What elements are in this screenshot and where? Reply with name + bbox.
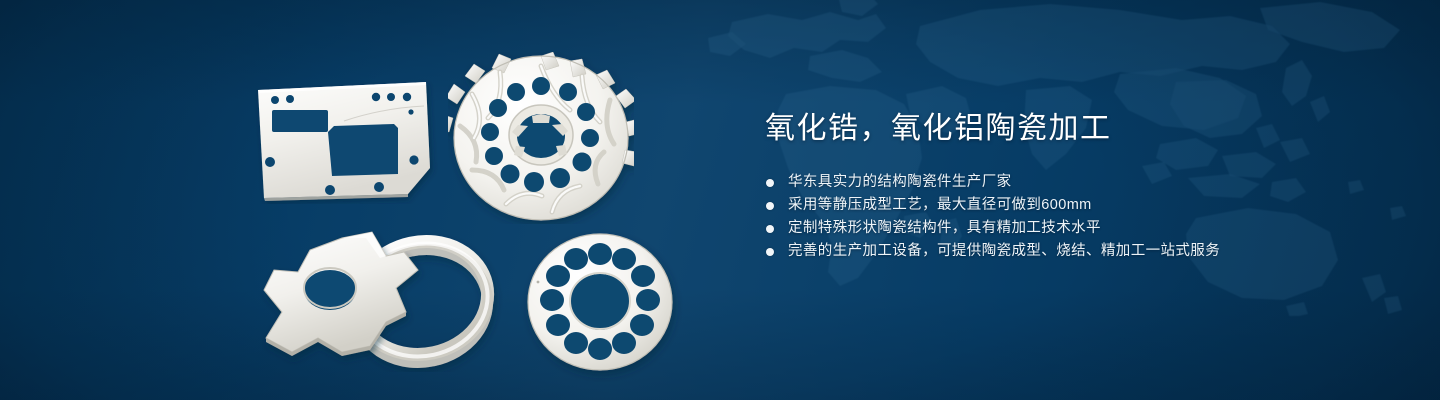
list-item: 定制特殊形状陶瓷结构件，具有精加工技术水平 bbox=[765, 217, 1365, 240]
ceramic-flat-plate bbox=[248, 72, 438, 204]
ceramic-hole-disc bbox=[512, 226, 694, 382]
list-item: 采用等静压成型工艺，最大直径可做到600mm bbox=[765, 194, 1365, 217]
bullet-dot-icon bbox=[766, 179, 774, 187]
bullet-dot-icon bbox=[766, 225, 774, 233]
banner-copy: 氧化锆，氧化铝陶瓷加工 华东具实力的结构陶瓷件生产厂家 采用等静压成型工艺，最大… bbox=[765, 108, 1365, 263]
list-item: 完善的生产加工设备，可提供陶瓷成型、烧结、精加工一站式服务 bbox=[765, 240, 1365, 263]
ceramic-cross-plate bbox=[246, 226, 508, 372]
feature-list: 华东具实力的结构陶瓷件生产厂家 采用等静压成型工艺，最大直径可做到600mm 定… bbox=[765, 171, 1365, 263]
ceramic-impeller-rotor bbox=[448, 52, 634, 224]
list-item-label: 完善的生产加工设备，可提供陶瓷成型、烧结、精加工一站式服务 bbox=[788, 240, 1220, 263]
hero-banner: 氧化锆，氧化铝陶瓷加工 华东具实力的结构陶瓷件生产厂家 采用等静压成型工艺，最大… bbox=[0, 0, 1440, 400]
bullet-dot-icon bbox=[766, 248, 774, 256]
list-item-label: 定制特殊形状陶瓷结构件，具有精加工技术水平 bbox=[788, 217, 1101, 240]
product-photo-group bbox=[0, 0, 760, 400]
bullet-dot-icon bbox=[766, 202, 774, 210]
list-item: 华东具实力的结构陶瓷件生产厂家 bbox=[765, 171, 1365, 194]
list-item-label: 采用等静压成型工艺，最大直径可做到600mm bbox=[788, 194, 1092, 217]
list-item-label: 华东具实力的结构陶瓷件生产厂家 bbox=[788, 171, 1012, 194]
page-title: 氧化锆，氧化铝陶瓷加工 bbox=[765, 108, 1365, 150]
